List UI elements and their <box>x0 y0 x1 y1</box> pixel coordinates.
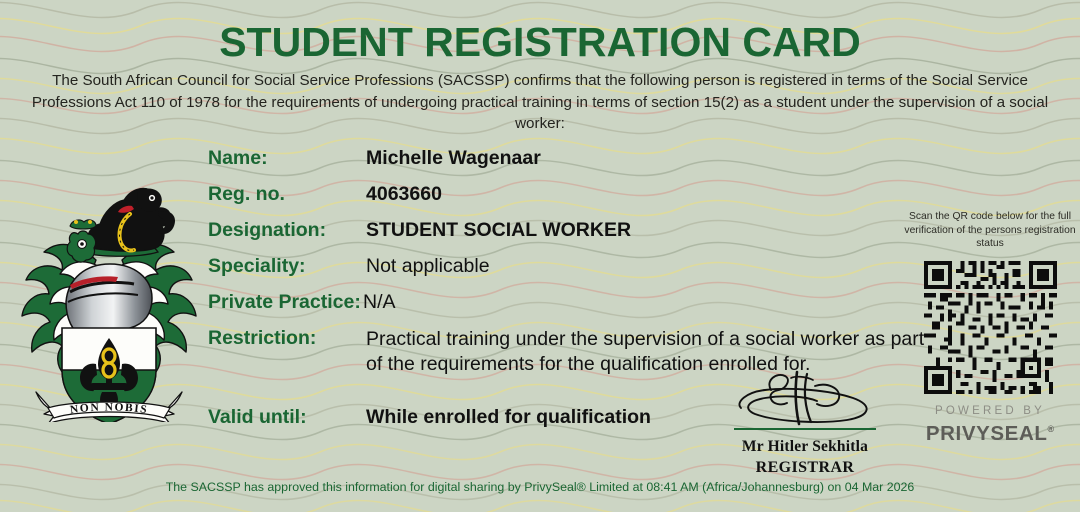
student-registration-card: STUDENT REGISTRATION CARD The South Afri… <box>0 0 1080 512</box>
privyseal-wordmark: PRIVYSEAL® <box>900 418 1080 445</box>
field-label: Valid until: <box>208 406 307 429</box>
field-value: N/A <box>363 291 396 314</box>
coat-of-arms-emblem: NON NOBIS <box>18 142 200 422</box>
field-value: Not applicable <box>366 255 490 278</box>
field-label: Private Practice: <box>208 291 361 314</box>
registrar-name: Mr Hitler Sekhitla <box>725 437 885 456</box>
field-value: Michelle Wagenaar <box>366 147 541 170</box>
powered-by-label: POWERED BY <box>900 404 1080 418</box>
registrar-role: REGISTRAR <box>725 459 885 477</box>
field-label: Speciality: <box>208 255 306 278</box>
signature-block: Mr Hitler Sekhitla REGISTRAR <box>725 368 885 477</box>
trademark-symbol: ® <box>1047 424 1054 434</box>
qr-instructions: Scan the QR code below for the full veri… <box>900 210 1080 251</box>
approval-footer: The SACSSP has approved this information… <box>0 480 1080 494</box>
field-value: 4063660 <box>366 183 442 206</box>
qr-code[interactable] <box>924 261 1057 394</box>
page-title: STUDENT REGISTRATION CARD <box>0 20 1080 64</box>
field-label: Designation: <box>208 219 326 242</box>
signature-mark <box>725 368 885 428</box>
field-label: Name: <box>208 147 268 170</box>
qr-panel: Scan the QR code below for the full veri… <box>900 210 1080 444</box>
field-value: While enrolled for qualification <box>366 406 651 429</box>
field-value: STUDENT SOCIAL WORKER <box>366 219 631 242</box>
privyseal-name: PRIVYSEAL <box>926 421 1048 444</box>
privyseal-branding: POWERED BY PRIVYSEAL® <box>900 404 1080 445</box>
field-label: Restriction: <box>208 327 316 350</box>
field-label: Reg. no. <box>208 183 285 206</box>
intro-paragraph: The South African Council for Social Ser… <box>30 70 1050 135</box>
signature-line <box>734 428 876 430</box>
